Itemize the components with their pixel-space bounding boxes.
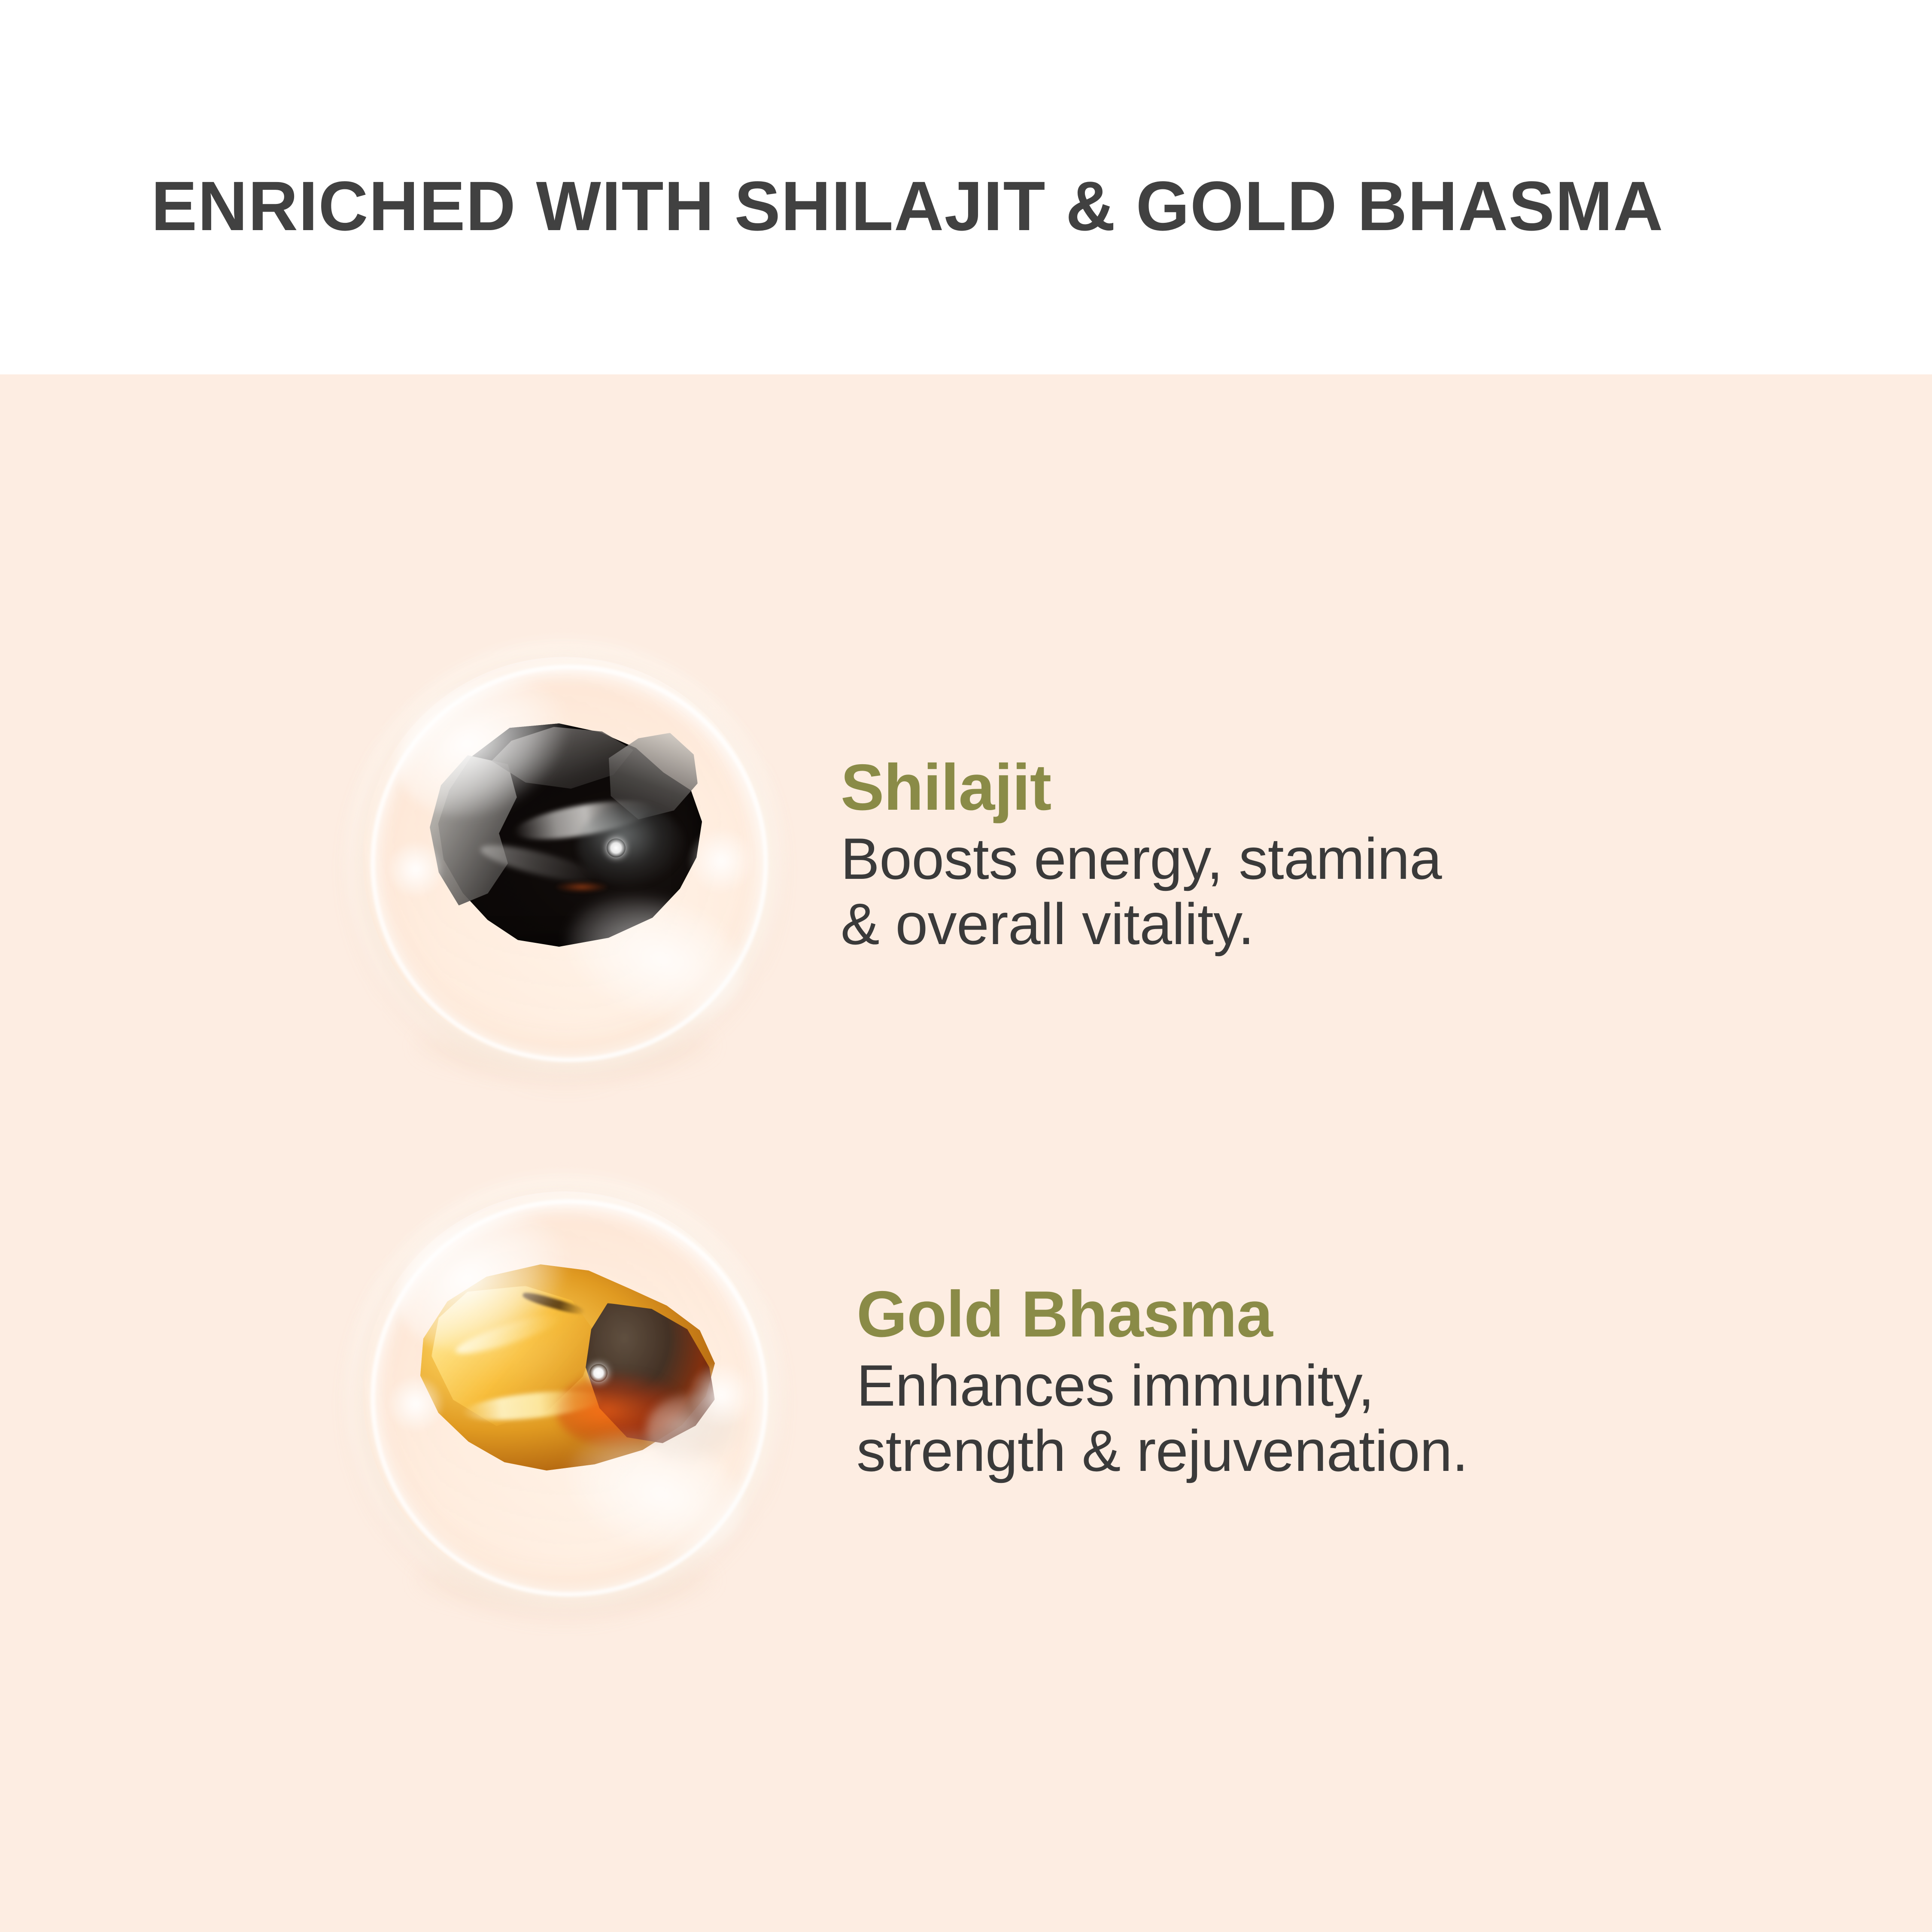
gold-bhasma-description-line-1: Enhances immunity, — [857, 1353, 1468, 1418]
gold-bhasma-text-block: Gold Bhasma Enhances immunity, strength … — [857, 1282, 1468, 1484]
shilajit-description-line-2: & overall vitality. — [841, 891, 1442, 957]
shilajit-text-block: Shilajit Boosts energy, stamina & overal… — [841, 755, 1442, 957]
shilajit-description: Boosts energy, stamina & overall vitalit… — [841, 826, 1442, 957]
sphere-glint-right — [689, 829, 753, 893]
sphere-glint-right — [689, 1363, 753, 1428]
shilajit-description-line-1: Boosts energy, stamina — [841, 826, 1442, 891]
shilajit-title: Shilajit — [841, 755, 1442, 820]
gold-bhasma-title: Gold Bhasma — [857, 1282, 1468, 1347]
ingredient-row-shilajit: Shilajit Boosts energy, stamina & overal… — [0, 657, 1932, 1069]
ingredient-row-gold-bhasma: Gold Bhasma Enhances immunity, strength … — [0, 1191, 1932, 1604]
page-title: ENRICHED WITH SHILAJIT & GOLD BHASMA — [151, 171, 1664, 241]
shilajit-bubble-image — [363, 657, 766, 1060]
sphere-glint-left — [388, 1376, 444, 1432]
gold-bhasma-description: Enhances immunity, strength & rejuvenati… — [857, 1353, 1468, 1484]
header-band: ENRICHED WITH SHILAJIT & GOLD BHASMA — [0, 0, 1932, 374]
gold-bhasma-bubble-image — [363, 1191, 766, 1595]
promo-page: ENRICHED WITH SHILAJIT & GOLD BHASMA — [0, 0, 1932, 1932]
sphere-glint-left — [388, 841, 444, 897]
gold-bhasma-description-line-2: strength & rejuvenation. — [857, 1418, 1468, 1483]
